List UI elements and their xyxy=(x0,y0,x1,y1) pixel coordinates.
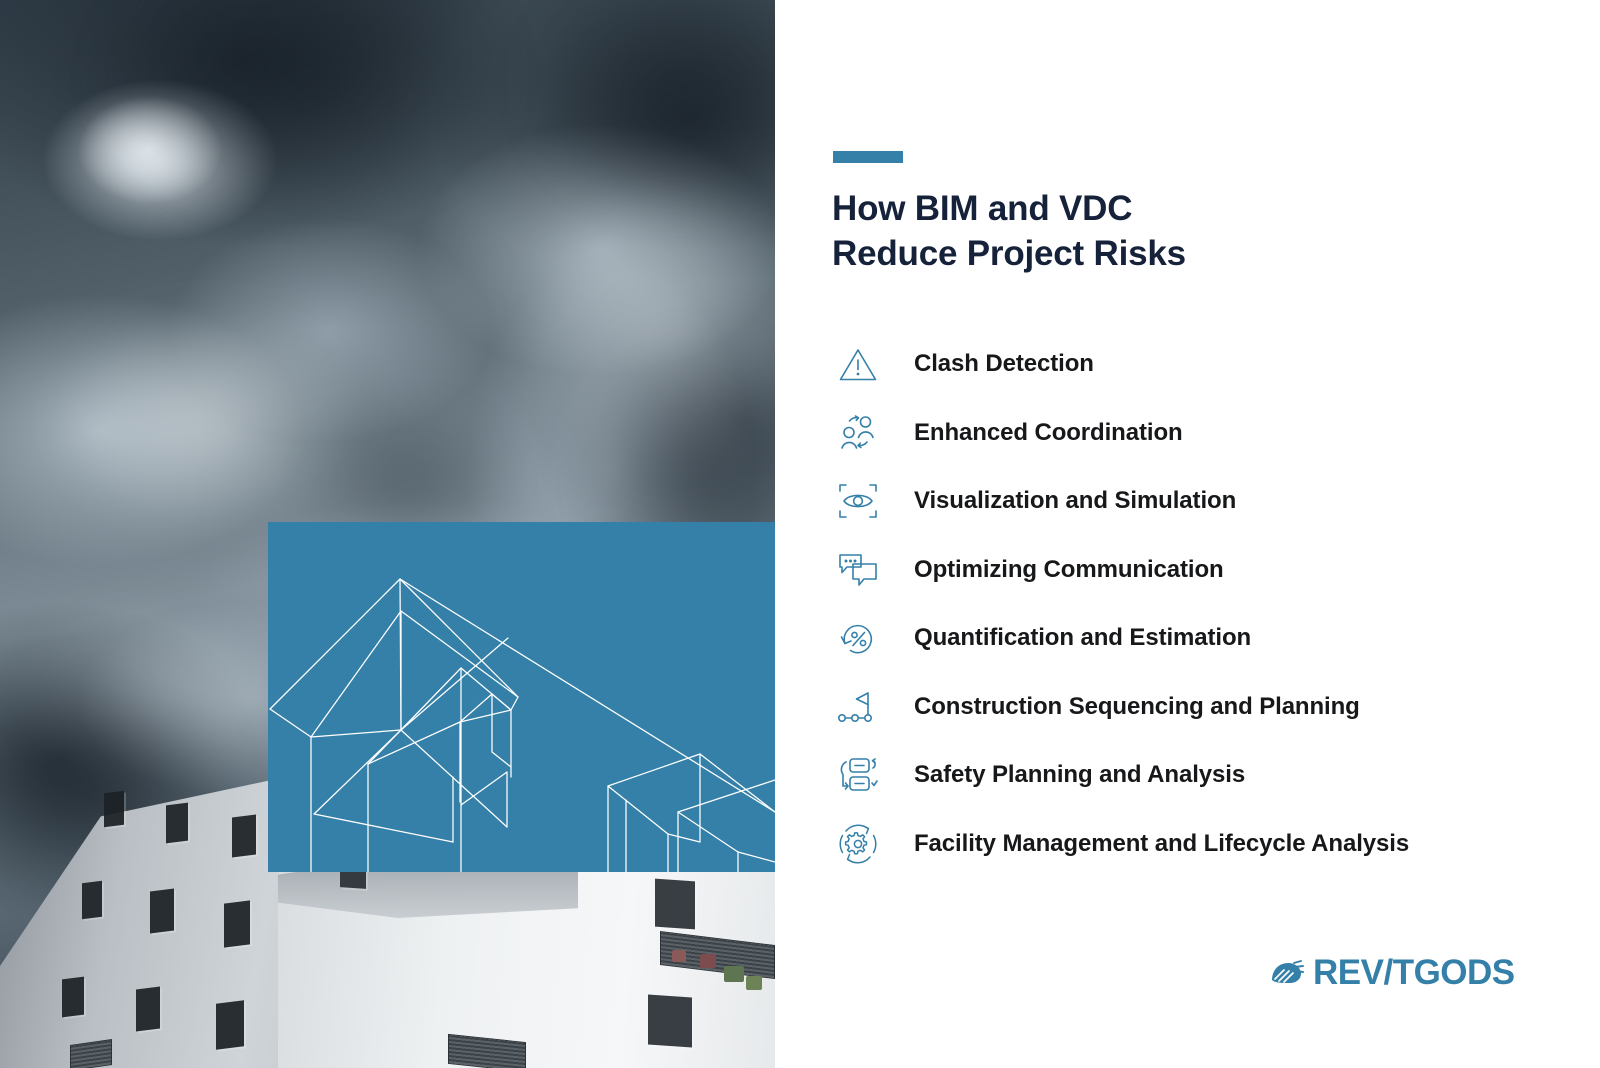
list-item-label: Quantification and Estimation xyxy=(914,624,1251,652)
list-item[interactable]: Facility Management and Lifecycle Analys… xyxy=(832,810,1592,879)
window xyxy=(166,803,188,844)
accent-bar xyxy=(833,151,903,163)
chat-bubbles-icon xyxy=(832,547,884,593)
gear-cycle-icon xyxy=(832,821,884,867)
eye-scan-icon xyxy=(832,478,884,524)
window xyxy=(655,879,695,930)
page-title: How BIM and VDC Reduce Project Risks xyxy=(832,186,1532,276)
list-item-label: Optimizing Communication xyxy=(914,556,1224,584)
page-title-line-2: Reduce Project Risks xyxy=(832,231,1532,276)
list-item-label: Visualization and Simulation xyxy=(914,487,1236,515)
list-item[interactable]: Enhanced Coordination xyxy=(832,399,1592,468)
balcony-plant xyxy=(700,954,716,968)
list-item-label: Safety Planning and Analysis xyxy=(914,761,1245,789)
warning-triangle-icon xyxy=(832,341,884,387)
milestone-flag-icon xyxy=(832,684,884,730)
checklist-cycle-icon xyxy=(832,752,884,798)
revitgods-logo[interactable]: REV/TGODS xyxy=(1270,955,1515,990)
page-title-line-1: How BIM and VDC xyxy=(832,186,1532,231)
list-item-label: Construction Sequencing and Planning xyxy=(914,693,1360,721)
list-item[interactable]: Safety Planning and Analysis xyxy=(832,741,1592,810)
list-item[interactable]: Optimizing Communication xyxy=(832,536,1592,605)
window xyxy=(224,900,250,947)
window xyxy=(216,1000,244,1049)
window xyxy=(104,791,124,827)
list-item[interactable]: Clash Detection xyxy=(832,330,1592,399)
people-coordination-icon xyxy=(832,410,884,456)
window xyxy=(82,881,102,919)
balcony-plant xyxy=(724,966,744,982)
window xyxy=(136,987,160,1032)
list-item-label: Enhanced Coordination xyxy=(914,419,1183,447)
percent-refresh-icon xyxy=(832,615,884,661)
window xyxy=(648,994,692,1047)
list-item[interactable]: Visualization and Simulation xyxy=(832,467,1592,536)
list-item-label: Clash Detection xyxy=(914,350,1094,378)
storm-clouds-photo xyxy=(0,0,775,1068)
wireframe-illustration xyxy=(268,522,775,872)
blue-wireframe-panel xyxy=(268,522,775,872)
window xyxy=(232,815,256,858)
balcony-plant xyxy=(672,950,686,962)
list-item[interactable]: Quantification and Estimation xyxy=(832,604,1592,673)
revitgods-swoosh-icon xyxy=(1270,958,1304,988)
window xyxy=(150,889,174,934)
window xyxy=(62,977,84,1018)
list-item-label: Facility Management and Lifecycle Analys… xyxy=(914,830,1409,858)
logo-text: REV/TGODS xyxy=(1313,955,1515,990)
balcony-plant xyxy=(746,976,762,990)
list-item[interactable]: Construction Sequencing and Planning xyxy=(832,673,1592,742)
content-panel: How BIM and VDC Reduce Project Risks Cla… xyxy=(775,0,1600,1068)
benefits-list: Clash Detection Enhanced C xyxy=(832,330,1592,878)
poster-canvas: How BIM and VDC Reduce Project Risks Cla… xyxy=(0,0,1600,1068)
balcony-railing xyxy=(70,1039,112,1068)
